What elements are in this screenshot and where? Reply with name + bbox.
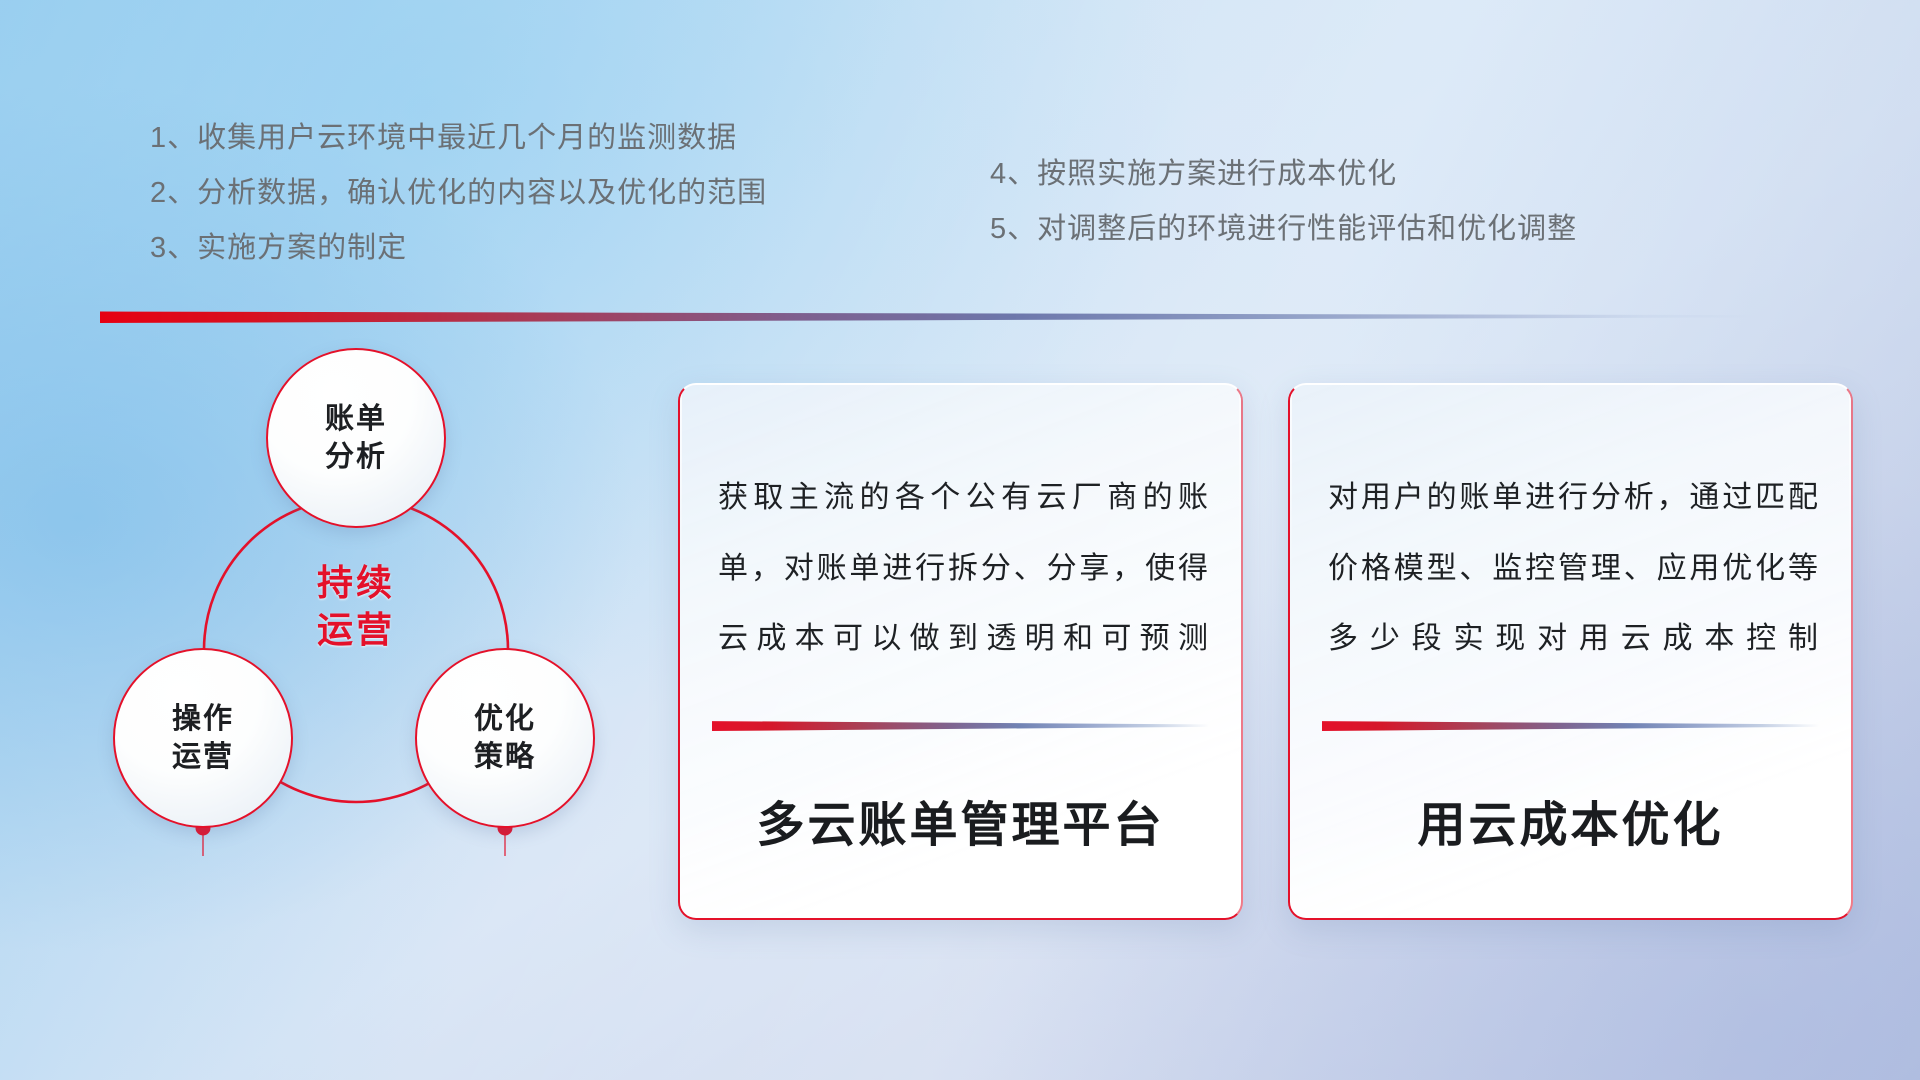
- card-2-accent-rule: [1322, 720, 1819, 731]
- card-1-title: 多云账单管理平台: [680, 785, 1241, 855]
- card-1-accent-rule: [712, 720, 1209, 731]
- bubble-bill-analysis-line2: 分析: [325, 438, 387, 476]
- card-multicloud-billing-platform[interactable]: 获取主流的各个公有云厂商的账单，对账单进行拆分、分享，使得云成本可以做到透明和可…: [678, 383, 1243, 920]
- section-divider-line: [100, 309, 1760, 323]
- diagram-center-label: 持续 运营: [266, 560, 446, 654]
- card-1-body-text: 获取主流的各个公有云厂商的账单，对账单进行拆分、分享，使得云成本可以做到透明和可…: [718, 463, 1209, 675]
- continuous-operations-diagram: 账单 分析 操作 运营 优化 策略 持续 运营: [95, 348, 655, 948]
- slide-canvas: 1、收集用户云环境中最近几个月的监测数据 2、分析数据，确认优化的内容以及优化的…: [0, 0, 1920, 1080]
- card-2-title: 用云成本优化: [1290, 785, 1851, 855]
- bubble-operations[interactable]: 操作 运营: [113, 648, 293, 828]
- step-item-4: 4、按照实施方案进行成本优化: [990, 160, 1577, 189]
- steps-right-column: 4、按照实施方案进行成本优化 5、对调整后的环境进行性能评估和优化调整: [990, 160, 1577, 270]
- diagram-center-label-line2: 运营: [266, 607, 446, 654]
- bubble-operations-line1: 操作: [172, 700, 234, 738]
- step-item-2: 2、分析数据，确认优化的内容以及优化的范围: [150, 179, 767, 208]
- step-item-3: 3、实施方案的制定: [150, 234, 767, 263]
- bubble-optimization-strategy[interactable]: 优化 策略: [415, 648, 595, 828]
- bubble-operations-line2: 运营: [172, 738, 234, 776]
- bubble-optimization-strategy-line1: 优化: [474, 700, 536, 738]
- step-item-1: 1、收集用户云环境中最近几个月的监测数据: [150, 124, 767, 153]
- diagram-center-label-line1: 持续: [266, 560, 446, 607]
- step-item-5: 5、对调整后的环境进行性能评估和优化调整: [990, 215, 1577, 244]
- bubble-optimization-strategy-line2: 策略: [474, 738, 536, 776]
- bubble-bill-analysis-line1: 账单: [325, 400, 387, 438]
- bubble-bill-analysis[interactable]: 账单 分析: [266, 348, 446, 528]
- card-cloud-cost-optimization[interactable]: 对用户的账单进行分析，通过匹配价格模型、监控管理、应用优化等多少段实现对用云成本…: [1288, 383, 1853, 920]
- steps-left-column: 1、收集用户云环境中最近几个月的监测数据 2、分析数据，确认优化的内容以及优化的…: [150, 124, 767, 289]
- card-2-body-text: 对用户的账单进行分析，通过匹配价格模型、监控管理、应用优化等多少段实现对用云成本…: [1328, 463, 1819, 675]
